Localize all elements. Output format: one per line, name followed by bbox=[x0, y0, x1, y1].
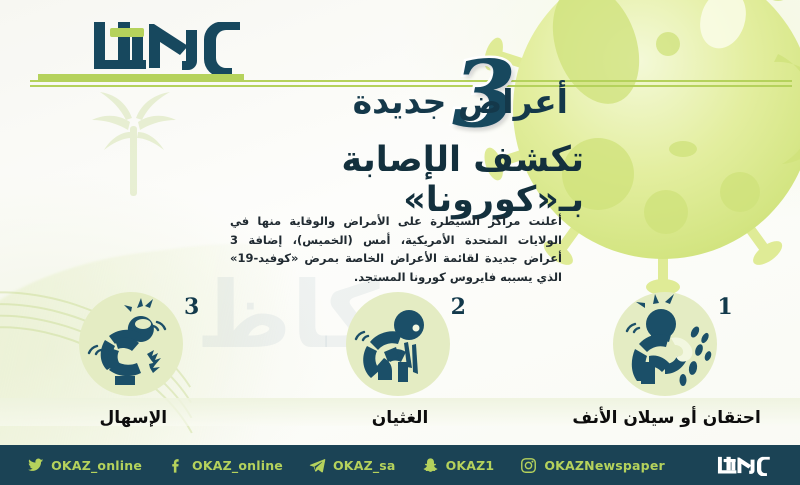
headline-line-1: أعراض جديدة bbox=[228, 82, 568, 121]
social-link-snapchat[interactable]: OKAZ1 bbox=[422, 457, 495, 474]
symptom-number: 2 bbox=[451, 294, 466, 320]
symptom-number: 1 bbox=[717, 294, 732, 320]
symptom-item: 2 الغثيان bbox=[295, 292, 505, 428]
social-handle: OKAZNewspaper bbox=[544, 458, 665, 473]
telegram-icon bbox=[309, 457, 326, 474]
social-link-twitter[interactable]: OKAZ_online bbox=[27, 457, 142, 474]
social-link-telegram[interactable]: OKAZ_sa bbox=[309, 457, 396, 474]
okaz-logo-footer[interactable] bbox=[697, 454, 773, 476]
symptom-item: 3 الإسهال bbox=[28, 292, 238, 428]
social-link-facebook[interactable]: OKAZ_online bbox=[168, 457, 283, 474]
social-handle: OKAZ_online bbox=[51, 458, 142, 473]
symptom-number: 3 bbox=[184, 294, 199, 320]
diarrhea-pictogram bbox=[79, 292, 183, 396]
symptom-item: 1 احتقان أو سيلان الأنف bbox=[562, 292, 772, 428]
social-footer-bar: OKAZ_online OKAZ_online OKAZ_sa OKAZ1 bbox=[0, 445, 800, 485]
symptoms-row: 3 الإسهال bbox=[0, 292, 800, 432]
runny-nose-sneeze-pictogram bbox=[613, 292, 717, 396]
instagram-icon bbox=[520, 457, 537, 474]
nausea-vomiting-pictogram bbox=[346, 292, 450, 396]
facebook-icon bbox=[168, 457, 185, 474]
social-handle: OKAZ_online bbox=[192, 458, 283, 473]
snapchat-icon bbox=[422, 457, 439, 474]
lede-paragraph: أعلنت مراكز السيطرة على الأمراض والوقاية… bbox=[230, 212, 562, 287]
social-link-instagram[interactable]: OKAZNewspaper bbox=[520, 457, 665, 474]
okaz-logo[interactable] bbox=[36, 14, 248, 76]
infographic-poster: عكاظ bbox=[0, 0, 800, 485]
symptom-label: الغثيان bbox=[372, 408, 429, 428]
symptom-label: الإسهال bbox=[100, 408, 168, 428]
social-handle: OKAZ_sa bbox=[333, 458, 396, 473]
symptom-label: احتقان أو سيلان الأنف bbox=[572, 408, 761, 428]
twitter-icon bbox=[27, 457, 44, 474]
social-handle: OKAZ1 bbox=[446, 458, 495, 473]
headline-line-2: تكشف الإصابة بـ«كورونا» bbox=[164, 140, 584, 220]
